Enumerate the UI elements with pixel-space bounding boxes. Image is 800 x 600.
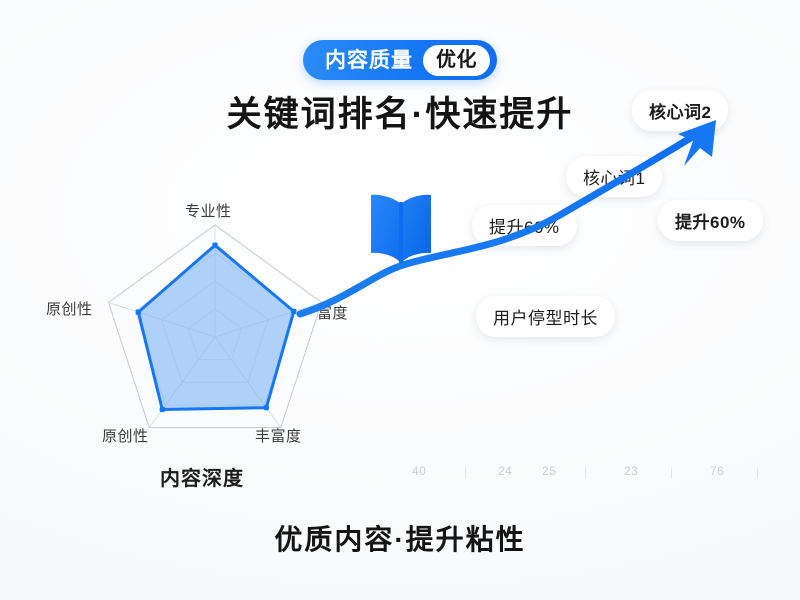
content-quality-badge[interactable]: 内容质量 优化 [303, 40, 497, 80]
badge-main-label: 内容质量 [325, 50, 413, 71]
infographic-canvas: 内容质量 优化 关键词排名·快速提升 专业性 富度 丰富度 原创性 原创性 [0, 0, 800, 600]
page-title: 关键词排名·快速提升 [0, 86, 800, 137]
growth-curve [300, 132, 700, 314]
open-book-icon [366, 183, 436, 268]
badge-tag-label: 优化 [423, 45, 490, 76]
